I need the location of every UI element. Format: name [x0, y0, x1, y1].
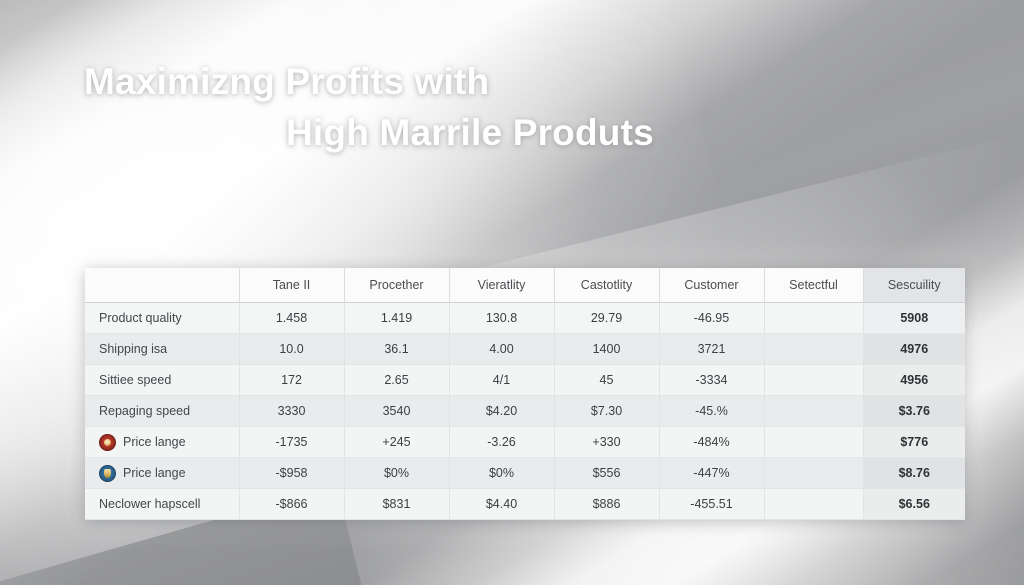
column-header-setectful: Setectful	[764, 268, 863, 303]
table-cell: $4.40	[449, 489, 554, 520]
table-cell: -484%	[659, 427, 764, 458]
row-label-wrapper: Sittiee speed	[99, 373, 229, 387]
table-cell: -447%	[659, 458, 764, 489]
row-label-cell: Neclower hapscell	[85, 489, 239, 520]
table-cell: 3330	[239, 396, 344, 427]
title-line-1: Maximizng Profits with	[84, 56, 784, 107]
column-header-procether: Procether	[344, 268, 449, 303]
cell-setectful	[764, 396, 863, 427]
table-cell: $886	[554, 489, 659, 520]
column-header-vieratlity: Vieratlity	[449, 268, 554, 303]
cell-setectful	[764, 334, 863, 365]
table-cell: -$958	[239, 458, 344, 489]
table-cell: 1.458	[239, 303, 344, 334]
table-row: Price lange-$958$0%$0%$556-447%$8.76	[85, 458, 965, 489]
row-label-wrapper: Product quality	[99, 311, 229, 325]
row-label-cell: Price lange	[85, 458, 239, 489]
cell-setectful	[764, 489, 863, 520]
table-cell: 4/1	[449, 365, 554, 396]
seal-red-icon	[99, 434, 116, 451]
row-label-cell: Sittiee speed	[85, 365, 239, 396]
table-cell: 3540	[344, 396, 449, 427]
table-cell: 29.79	[554, 303, 659, 334]
column-header-customer: Customer	[659, 268, 764, 303]
cell-sescuility: $8.76	[863, 458, 965, 489]
cell-sescuility: 4976	[863, 334, 965, 365]
table-cell: -46.95	[659, 303, 764, 334]
row-label-text: Shipping isa	[99, 342, 167, 356]
table-cell: 10.0	[239, 334, 344, 365]
cell-sescuility: 4956	[863, 365, 965, 396]
row-label-wrapper: Shipping isa	[99, 342, 229, 356]
row-label-wrapper: Neclower hapscell	[99, 497, 229, 511]
cell-setectful	[764, 303, 863, 334]
table-cell: -1735	[239, 427, 344, 458]
table-cell: +330	[554, 427, 659, 458]
column-header-sescuility: Sescuility	[863, 268, 965, 303]
row-label-cell: Repaging speed	[85, 396, 239, 427]
row-label-text: Repaging speed	[99, 404, 190, 418]
row-label-text: Neclower hapscell	[99, 497, 200, 511]
table-cell: 2.65	[344, 365, 449, 396]
table-row: Price lange-1735+245-3.26+330-484%$776	[85, 427, 965, 458]
row-label-wrapper: Price lange	[99, 434, 229, 451]
table-cell: 130.8	[449, 303, 554, 334]
cell-sescuility: $3.76	[863, 396, 965, 427]
table-cell: 1.419	[344, 303, 449, 334]
title-line-2: High Marrile Produts	[84, 107, 784, 158]
table-cell: 4.00	[449, 334, 554, 365]
column-header-tane: Tane II	[239, 268, 344, 303]
cell-setectful	[764, 427, 863, 458]
header-row: Tane II Procether Vieratlity Castotlity …	[85, 268, 965, 303]
row-label-text: Sittiee speed	[99, 373, 171, 387]
table-cell: $831	[344, 489, 449, 520]
row-label-text: Product quality	[99, 311, 182, 325]
table-cell: 45	[554, 365, 659, 396]
table-row: Shipping isa10.036.14.00140037214976	[85, 334, 965, 365]
row-label-cell: Price lange	[85, 427, 239, 458]
table-cell: 3721	[659, 334, 764, 365]
table-cell: $556	[554, 458, 659, 489]
table-cell: -$866	[239, 489, 344, 520]
seal-blue-icon	[99, 465, 116, 482]
table-header: Tane II Procether Vieratlity Castotlity …	[85, 268, 965, 303]
table-row: Repaging speed33303540$4.20$7.30-45.%$3.…	[85, 396, 965, 427]
cell-setectful	[764, 458, 863, 489]
slide-canvas: Maximizng Profits with High Marrile Prod…	[0, 0, 1024, 585]
slide-title: Maximizng Profits with High Marrile Prod…	[84, 56, 784, 158]
table-cell: -3.26	[449, 427, 554, 458]
table-cell: 172	[239, 365, 344, 396]
table-cell: +245	[344, 427, 449, 458]
table-cell: -455.51	[659, 489, 764, 520]
row-label-text: Price lange	[123, 435, 186, 449]
table-cell: -3334	[659, 365, 764, 396]
column-header-label	[85, 268, 239, 303]
table-cell: 36.1	[344, 334, 449, 365]
table-cell: -45.%	[659, 396, 764, 427]
table-cell: $7.30	[554, 396, 659, 427]
cell-sescuility: 5908	[863, 303, 965, 334]
table-row: Sittiee speed1722.654/145-33344956	[85, 365, 965, 396]
row-label-cell: Shipping isa	[85, 334, 239, 365]
table-row: Neclower hapscell-$866$831$4.40$886-455.…	[85, 489, 965, 520]
table-cell: 1400	[554, 334, 659, 365]
row-label-cell: Product quality	[85, 303, 239, 334]
row-label-wrapper: Price lange	[99, 465, 229, 482]
row-label-wrapper: Repaging speed	[99, 404, 229, 418]
column-header-castotlity: Castotlity	[554, 268, 659, 303]
cell-sescuility: $776	[863, 427, 965, 458]
cell-setectful	[764, 365, 863, 396]
data-table: Tane II Procether Vieratlity Castotlity …	[85, 268, 965, 520]
cell-sescuility: $6.56	[863, 489, 965, 520]
table-cell: $0%	[344, 458, 449, 489]
table-row: Product quality1.4581.419130.829.79-46.9…	[85, 303, 965, 334]
row-label-text: Price lange	[123, 466, 186, 480]
table-cell: $0%	[449, 458, 554, 489]
table-cell: $4.20	[449, 396, 554, 427]
table-body: Product quality1.4581.419130.829.79-46.9…	[85, 303, 965, 520]
data-table-container: Tane II Procether Vieratlity Castotlity …	[85, 268, 964, 520]
